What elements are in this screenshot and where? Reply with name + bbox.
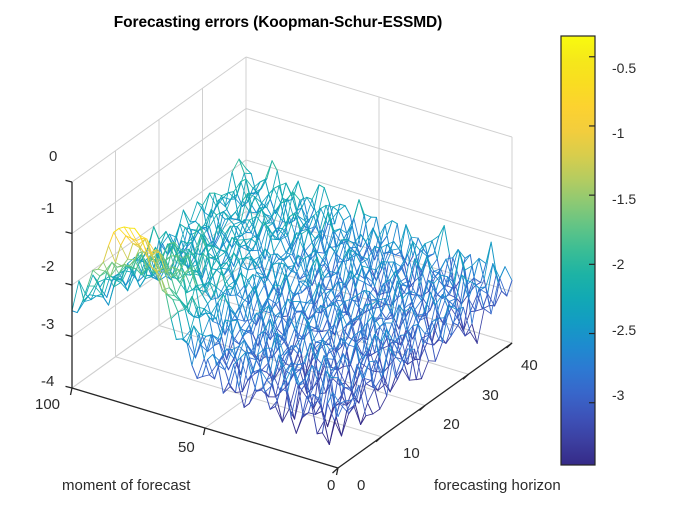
colorbar-tick-1: -1 (612, 125, 624, 141)
colorbar[interactable] (0, 0, 700, 525)
colorbar-gradient (561, 36, 595, 465)
colorbar-tick-4: -2.5 (612, 322, 636, 338)
colorbar-tick-2: -1.5 (612, 191, 636, 207)
colorbar-tick-0: -0.5 (612, 60, 636, 76)
figure-canvas: Forecasting errors (Koopman-Schur-ESSMD)… (0, 0, 700, 525)
colorbar-tick-3: -2 (612, 256, 624, 272)
colorbar-tick-5: -3 (612, 387, 624, 403)
